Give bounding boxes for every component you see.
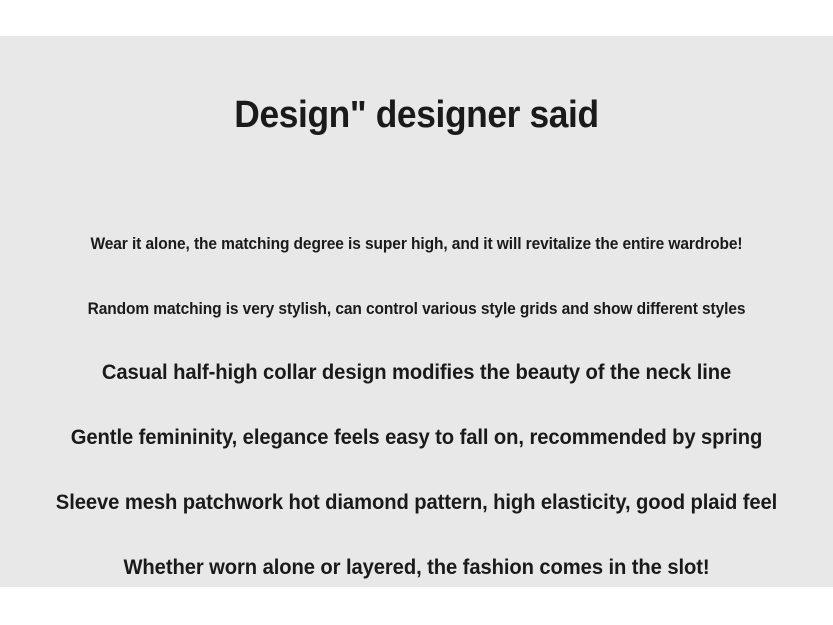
promo-feature-line-6: Whether worn alone or layered, the fashi…: [25, 557, 808, 579]
promo-feature-line-1: Wear it alone, the matching degree is su…: [25, 236, 808, 253]
promo-panel: Design" designer said Wear it alone, the…: [0, 36, 833, 587]
promo-feature-line-4: Gentle femininity, elegance feels easy t…: [25, 427, 808, 449]
promo-feature-line-2: Random matching is very stylish, can con…: [25, 301, 808, 318]
promo-copy-block: Design" designer said Wear it alone, the…: [0, 36, 833, 587]
promo-page: Design" designer said Wear it alone, the…: [0, 0, 833, 625]
promo-feature-line-3: Casual half-high collar design modifies …: [25, 362, 808, 384]
promo-feature-line-5: Sleeve mesh patchwork hot diamond patter…: [25, 492, 808, 514]
page-title: Design" designer said: [29, 96, 804, 134]
